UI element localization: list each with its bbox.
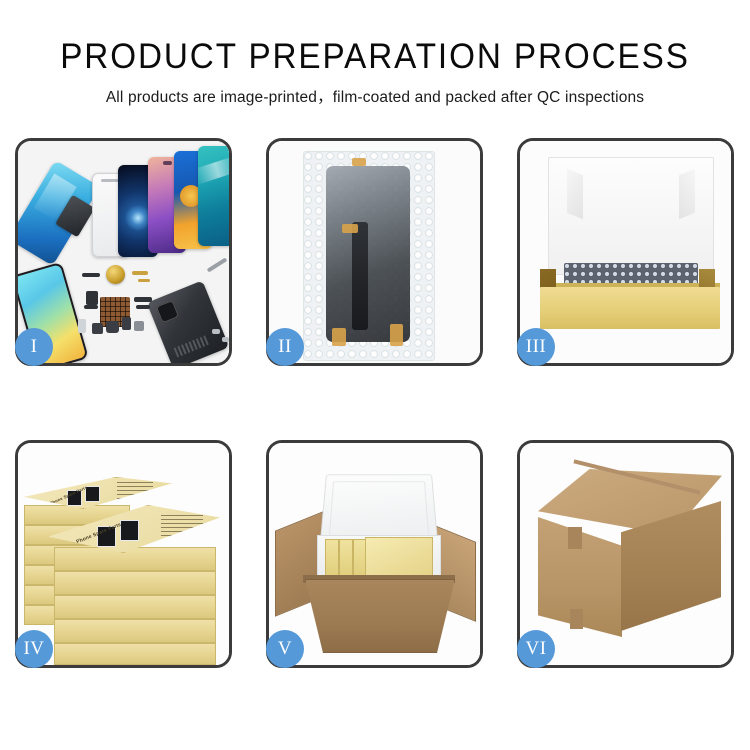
small-part-icon [122,317,131,330]
tape-icon [352,158,366,166]
screw-icon [212,329,220,334]
flex-cable-icon [134,297,152,302]
page-title: PRODUCT PREPARATION PROCESS [19,38,732,76]
panel-sealed-carton-image [520,443,731,665]
panel-phone-parts: I [15,138,232,366]
step-badge-1: I [15,328,53,366]
tape-icon [332,328,346,346]
foam-lining-icon [548,157,714,275]
foam-flap-left-icon [567,169,583,219]
panel-bubble-wrapped-part: II [266,138,483,366]
panel-sealed-carton: VI [517,440,734,668]
phone-back-housing-icon [147,280,229,363]
panel-stacked-boxes: Mobile Phone Spare Parts Mobile Phone Sp… [15,440,232,668]
flex-cable-icon [136,305,150,309]
carton-tab-icon [568,527,582,549]
panel-stacked-boxes-image: Mobile Phone Spare Parts Mobile Phone Sp… [18,443,229,665]
phone-parts-collage [18,141,229,363]
stacked-box-icon [54,619,216,643]
step-badge-4: IV [15,630,53,668]
bubble-wrap-bag-icon [303,151,435,361]
box-window-icon [120,520,139,541]
step-badge-3: III [517,328,555,366]
gold-connector-icon [132,271,148,275]
stacked-box-icon [54,595,216,619]
step-badge-6: VI [517,630,555,668]
open-kraft-box-scene [520,141,731,363]
open-carton-scene [269,443,480,665]
panel-carton-with-foam-box: V [266,440,483,668]
panel-carton-with-foam-box-image [269,443,480,665]
tape-icon [390,324,403,346]
gold-coil-part-icon [106,265,125,284]
foam-flap-right-icon [679,169,695,219]
phone-screen-teal-icon [198,146,229,246]
bubble-wrap-scene [269,141,480,363]
box-print-lines [117,482,153,499]
small-part-icon [78,319,86,333]
flex-cable-icon [86,291,98,305]
stacked-boxes-scene: Mobile Phone Spare Parts Mobile Phone Sp… [18,443,229,665]
stacked-box-icon [54,571,216,595]
wrapped-flex-strip-icon [352,222,368,330]
flex-cable-icon [82,273,100,277]
flex-cable-icon [84,305,98,309]
small-part-icon [134,321,144,331]
box-print-lines [161,514,203,536]
carton-tab-icon [570,609,583,629]
panel-yellow-box-foam: III [517,138,734,366]
stacked-box-icon [54,643,216,665]
small-part-icon [92,323,103,334]
screwdriver-icon [207,257,228,272]
wrapped-phone-part-icon [326,166,410,342]
stacked-box-icon [54,547,216,571]
panel-yellow-box-foam-image [520,141,731,363]
page-header: PRODUCT PREPARATION PROCESS All products… [0,0,750,108]
panel-phone-parts-image [18,141,229,363]
panel-bubble-wrapped-part-image [269,141,480,363]
page-subtitle: All products are image-printed，film-coat… [0,88,750,108]
carton-body-icon [305,579,455,653]
screw-icon [222,337,229,342]
box-stack: Mobile Phone Spare Parts Mobile Phone Sp… [18,443,229,665]
sealed-carton-scene [520,443,731,665]
tape-icon [342,224,358,233]
gold-connector-icon [138,279,150,282]
small-part-icon [106,321,119,333]
step-badge-5: V [266,630,304,668]
kraft-box-front-icon [540,287,720,329]
step-badge-2: II [266,328,304,366]
process-step-grid: I II [15,138,735,668]
